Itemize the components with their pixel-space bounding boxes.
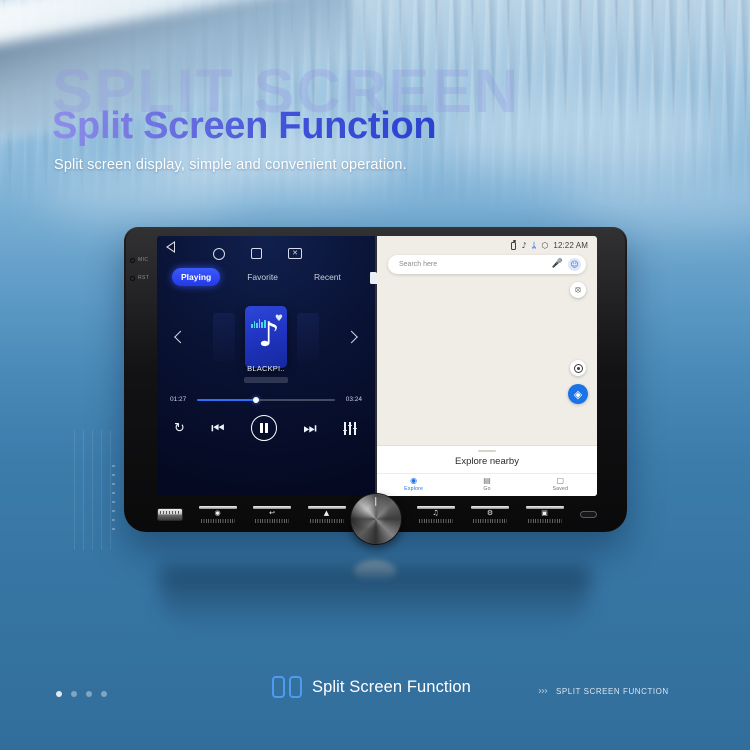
- usb-slot[interactable]: [158, 509, 182, 520]
- time-total: 03:24: [342, 396, 362, 403]
- speaker-grille: [419, 519, 453, 523]
- tab-favorite[interactable]: Favorite: [238, 268, 287, 286]
- music-tabs: Playing Favorite Recent: [157, 260, 375, 286]
- sheet-tabs: ◉ Explore ▤ Go ▢ Saved: [377, 473, 597, 496]
- carousel-dots: [56, 691, 107, 697]
- reset-label-text: RST: [138, 275, 149, 281]
- head-unit-screen: ✕ Playing Favorite Recent ♥: [157, 236, 597, 496]
- footer-tagline: ››› SPLIT SCREEN FUNCTION: [538, 686, 669, 697]
- decorative-dot-column: [112, 465, 115, 535]
- repeat-button[interactable]: ↻: [174, 422, 185, 435]
- home-button[interactable]: ▲: [308, 506, 346, 523]
- carousel-dot[interactable]: [101, 691, 107, 697]
- battery-icon: [511, 242, 516, 250]
- decorative-hairlines: [74, 430, 114, 550]
- time-elapsed: 01:27: [170, 396, 190, 403]
- back-button[interactable]: ↩: [253, 506, 291, 523]
- previous-album-icon[interactable]: [174, 331, 187, 344]
- volume-knob[interactable]: [351, 494, 401, 544]
- sheet-tab-explore-label: Explore: [404, 486, 423, 492]
- progress-knob[interactable]: [253, 397, 259, 403]
- camera-button[interactable]: ▣: [526, 506, 564, 523]
- pause-button[interactable]: [251, 415, 277, 441]
- reset-hole-icon: [130, 276, 135, 281]
- home-triangle-icon: ▲: [324, 510, 329, 517]
- power-icon: ◉: [214, 510, 220, 517]
- car-head-unit: MIC RST ✕ Playing Favorite Recent: [124, 227, 627, 532]
- sheet-drag-handle[interactable]: [478, 450, 496, 452]
- carousel-dot[interactable]: [71, 691, 77, 697]
- sheet-tab-saved-label: Saved: [552, 486, 568, 492]
- page-title: Split Screen Function: [52, 105, 436, 148]
- status-bar: ♪ ᛦ ⬡ 12:22 AM: [377, 236, 597, 251]
- android-navbar: ✕: [157, 236, 375, 260]
- ir-sensor: [580, 511, 597, 518]
- sheet-tab-explore[interactable]: ◉ Explore: [377, 474, 450, 496]
- next-album-icon[interactable]: [345, 331, 358, 344]
- sheet-tab-saved[interactable]: ▢ Saved: [524, 474, 597, 496]
- gear-icon: ⚙: [487, 510, 493, 517]
- directions-button[interactable]: ◈: [568, 384, 588, 404]
- album-carousel: ♥ ♪ BLACKPI..: [157, 292, 375, 382]
- music-player-panel: ✕ Playing Favorite Recent ♥: [157, 236, 375, 496]
- music-button[interactable]: ♫: [417, 506, 455, 523]
- album-side-left[interactable]: [213, 313, 235, 361]
- next-button[interactable]: ⏭: [303, 421, 317, 436]
- location-icon: ⬡: [541, 242, 548, 250]
- search-input[interactable]: Search here: [399, 261, 547, 268]
- bookmark-icon: ▢: [557, 477, 565, 485]
- sheet-title: Explore nearby: [377, 456, 597, 473]
- footer-label: Split Screen Function: [312, 678, 471, 697]
- home-icon[interactable]: [213, 248, 225, 260]
- progress-fill: [197, 399, 256, 401]
- carousel-dot[interactable]: [56, 691, 62, 697]
- reset-label: RST: [130, 275, 149, 281]
- speaker-grille: [310, 519, 344, 523]
- background-cloud: [40, 165, 240, 220]
- hardware-button-bar: ◉ ↩ ▲ ♫ ⚙: [124, 498, 627, 532]
- mic-icon[interactable]: 🎤: [552, 260, 563, 269]
- layers-icon: ⦻: [575, 286, 581, 295]
- mic-label: MIC: [130, 257, 148, 263]
- album-wrap: ♥ ♪: [213, 306, 319, 368]
- music-note-icon: ♪: [521, 242, 526, 250]
- avatar[interactable]: ☺: [568, 258, 581, 271]
- screenshot-icon[interactable]: ✕: [288, 248, 302, 259]
- equalizer-button[interactable]: [343, 422, 358, 435]
- my-location-icon: [574, 364, 583, 373]
- page-subtitle: Split screen display, simple and conveni…: [54, 157, 407, 173]
- tab-playing[interactable]: Playing: [172, 268, 220, 286]
- carousel-dot[interactable]: [86, 691, 92, 697]
- bottom-sheet: Explore nearby ◉ Explore ▤ Go ▢ Saved: [377, 445, 597, 496]
- speaker-grille: [201, 519, 235, 523]
- track-artist-placeholder: [244, 377, 288, 383]
- speaker-grille: [528, 519, 562, 523]
- search-bar[interactable]: Search here 🎤 ☺: [388, 255, 586, 274]
- mic-label-text: MIC: [138, 257, 148, 263]
- mic-hole-icon: [130, 258, 135, 263]
- my-location-button[interactable]: [570, 360, 586, 376]
- speaker-grille: [473, 519, 507, 523]
- explore-pin-icon: ◉: [410, 477, 417, 485]
- progress-row: 01:27 03:24: [157, 396, 375, 403]
- back-icon[interactable]: [174, 247, 187, 260]
- status-bar-time: 12:22 AM: [553, 241, 588, 250]
- speaker-grille: [255, 519, 289, 523]
- track-title: BLACKPI..: [157, 364, 375, 373]
- album-side-right[interactable]: [297, 313, 319, 361]
- album-art[interactable]: ♥ ♪: [245, 306, 287, 368]
- recent-apps-icon[interactable]: [251, 248, 262, 259]
- directions-icon: ◈: [574, 389, 582, 400]
- folder-icon[interactable]: [370, 271, 375, 284]
- settings-button[interactable]: ⚙: [471, 506, 509, 523]
- split-screen-icon: [272, 676, 302, 698]
- sheet-tab-go[interactable]: ▤ Go: [450, 474, 523, 496]
- maps-panel: ♪ ᛦ ⬡ 12:22 AM Search here 🎤 ☺ ⦻ ◈: [377, 236, 597, 496]
- camera-icon: ▣: [541, 510, 548, 517]
- sheet-tab-go-label: Go: [483, 486, 490, 492]
- music-note-icon: ♪: [258, 318, 280, 352]
- layers-button[interactable]: ⦻: [570, 282, 586, 298]
- go-directions-icon: ▤: [483, 477, 491, 485]
- power-button[interactable]: ◉: [199, 506, 237, 523]
- map-canvas[interactable]: ⦻ ◈: [377, 274, 597, 445]
- bluetooth-icon: ᛦ: [532, 242, 537, 250]
- progress-slider[interactable]: [197, 399, 335, 401]
- footer-caps-label: SPLIT SCREEN FUNCTION: [556, 687, 669, 696]
- knob-reflection: [354, 560, 396, 582]
- music-note-icon: ♫: [432, 510, 438, 517]
- back-arrow-icon: ↩: [269, 510, 275, 517]
- knob-shading: [351, 494, 401, 544]
- playback-controls: ↻ ⏮ ⏭: [157, 403, 375, 441]
- previous-button[interactable]: ⏮: [211, 421, 225, 436]
- bezel-left-labels: MIC RST: [130, 257, 158, 281]
- chevron-right-icon: ›››: [538, 686, 547, 697]
- background-cloud: [560, 170, 750, 230]
- footer-feature: Split Screen Function: [272, 676, 471, 698]
- pause-glyph: [260, 423, 268, 433]
- tab-recent[interactable]: Recent: [305, 268, 350, 286]
